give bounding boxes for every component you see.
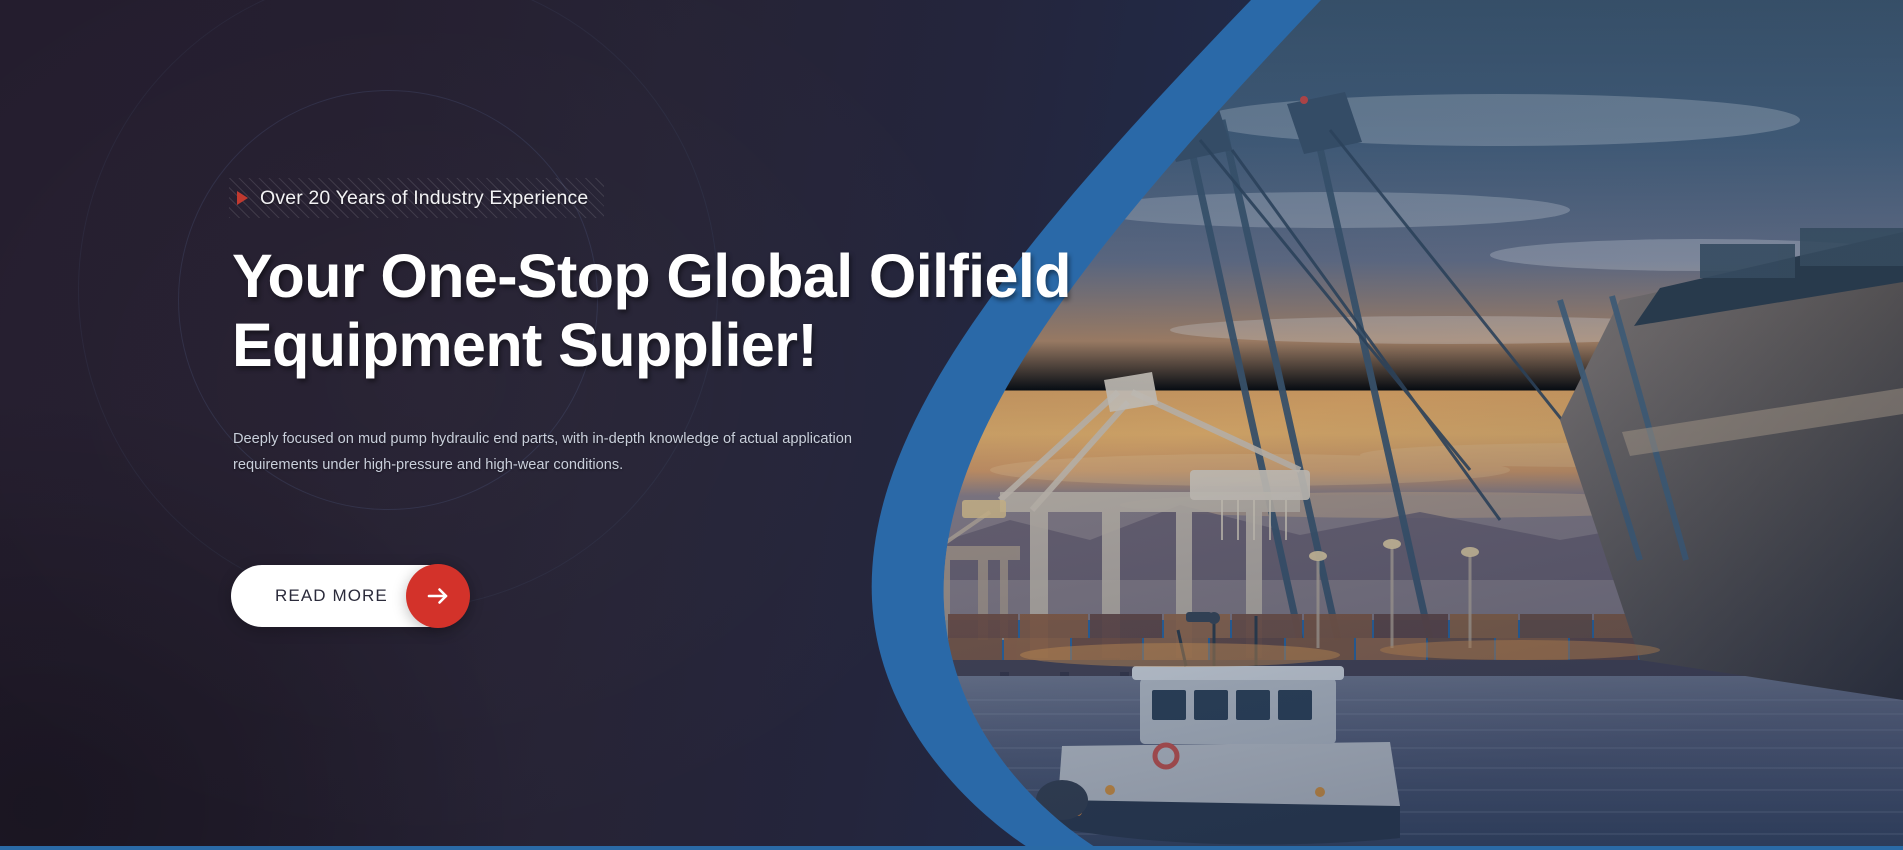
hero-paragraph: Deeply focused on mud pump hydraulic end… bbox=[233, 427, 913, 478]
page-title: Your One-Stop Global Oilfield Equipment … bbox=[232, 242, 1192, 380]
hero-tagline: Over 20 Years of Industry Experience bbox=[229, 178, 604, 218]
arrow-right-icon[interactable] bbox=[406, 564, 470, 628]
hero-content: Over 20 Years of Industry Experience You… bbox=[232, 0, 932, 850]
hero-tagline-text: Over 20 Years of Industry Experience bbox=[260, 187, 588, 210]
hero-banner: Over 20 Years of Industry Experience You… bbox=[0, 0, 1903, 850]
read-more-button[interactable]: READ MORE bbox=[231, 565, 463, 627]
headline-line-2: Equipment Supplier! bbox=[232, 311, 1192, 380]
read-more-label: READ MORE bbox=[275, 586, 388, 606]
headline-line-1: Your One-Stop Global Oilfield bbox=[232, 242, 1071, 310]
bottom-rule bbox=[0, 846, 1903, 850]
play-triangle-icon bbox=[237, 191, 248, 205]
